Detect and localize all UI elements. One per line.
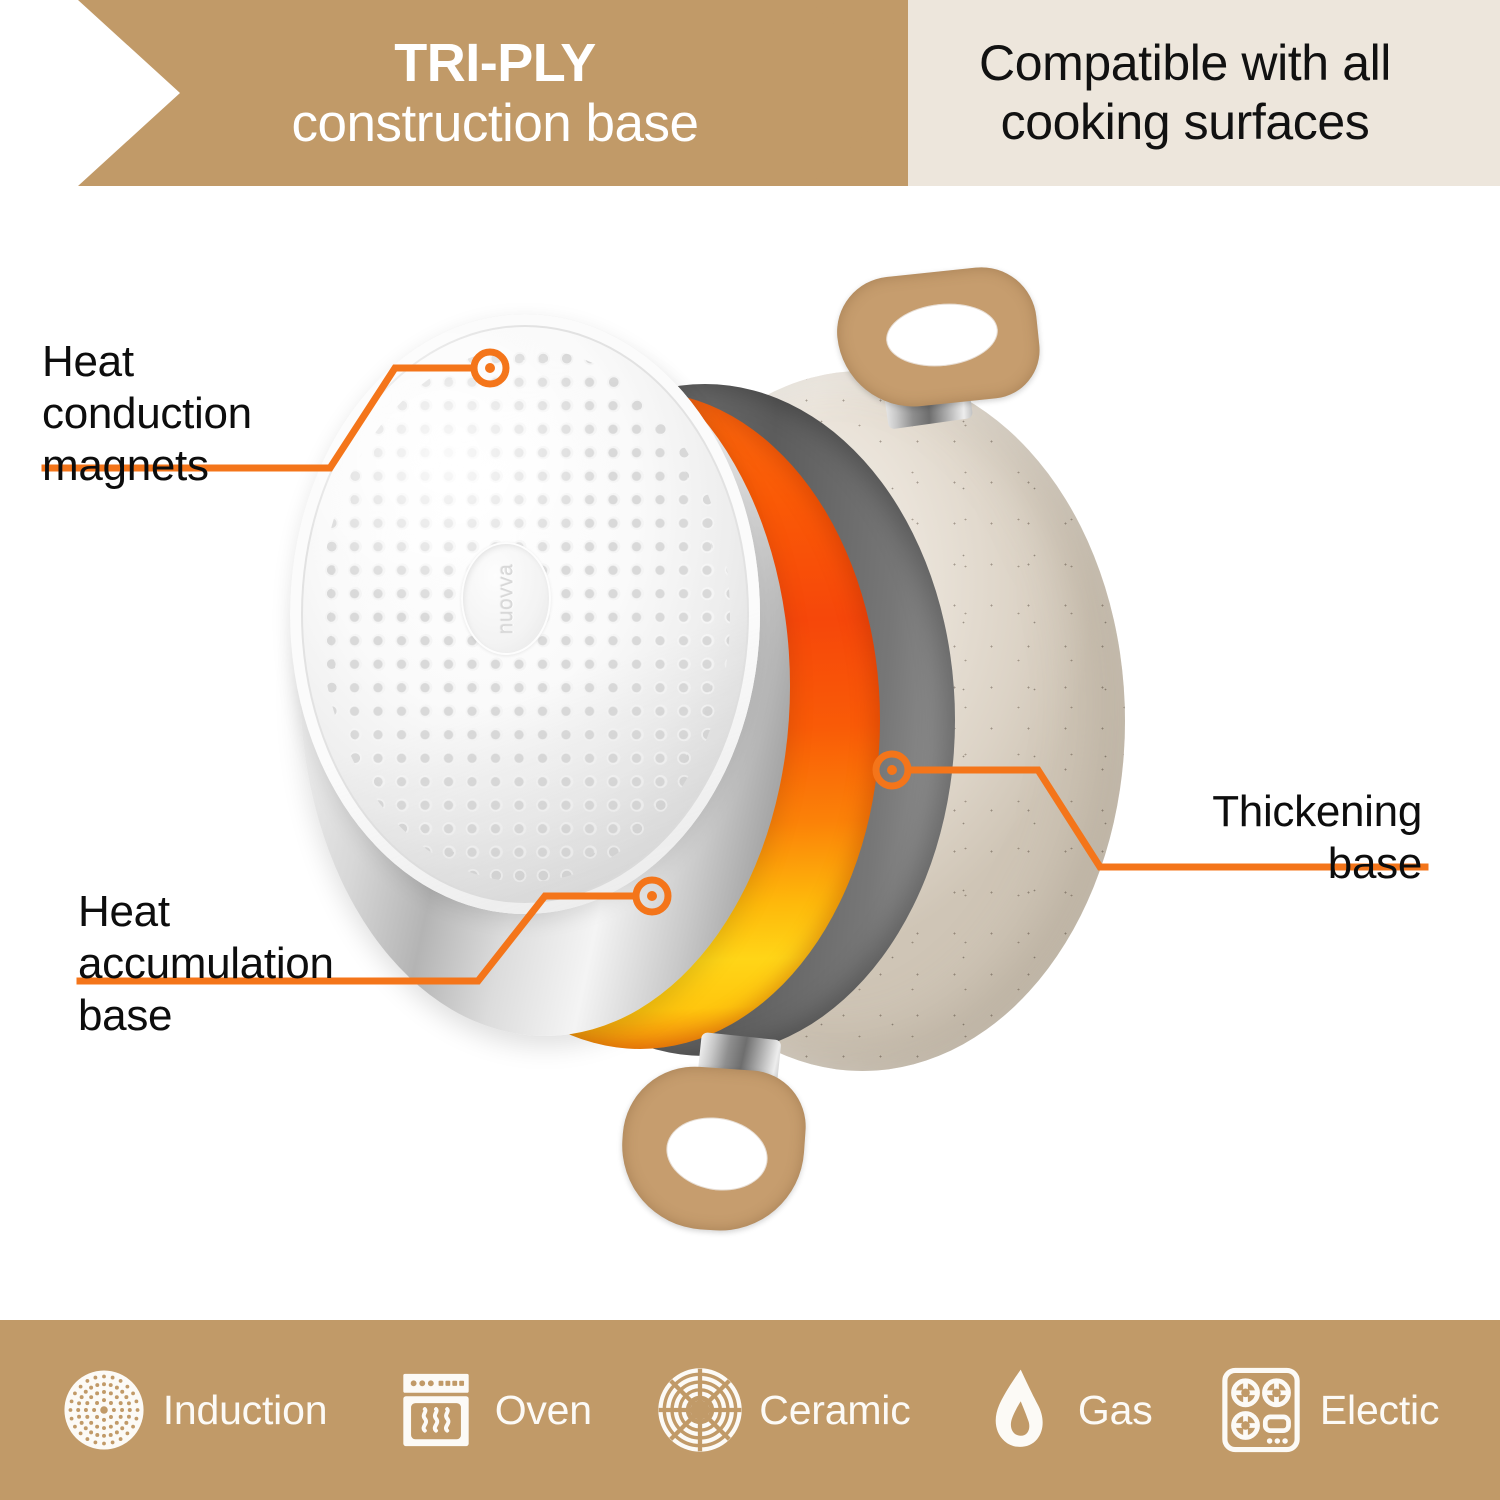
compatibility-bar: Induction Oven: [0, 1320, 1500, 1500]
callout-thickening-base: Thickening base: [1000, 786, 1422, 890]
primary-banner-line1: TRI-PLY: [394, 33, 596, 93]
header-banner-group: TRI-PLY construction base Compatible wit…: [0, 0, 1500, 186]
electric-cooktop-icon: [1218, 1367, 1304, 1453]
brand-medallion-label: nuovva: [494, 563, 518, 634]
secondary-banner-text: Compatible with all cooking surfaces: [880, 14, 1490, 172]
feature-ceramic: Ceramic: [657, 1367, 910, 1453]
ceramic-icon: [657, 1367, 743, 1453]
secondary-banner-line2: cooking surfaces: [1001, 93, 1370, 152]
handle-top: [830, 266, 1045, 466]
feature-oven: Oven: [393, 1367, 592, 1453]
gas-flame-icon: [976, 1367, 1062, 1453]
induction-icon: [61, 1367, 147, 1453]
feature-label-ceramic: Ceramic: [759, 1387, 910, 1434]
primary-banner-line2: construction base: [292, 94, 699, 153]
feature-label-gas: Gas: [1078, 1387, 1153, 1434]
feature-label-induction: Induction: [163, 1387, 328, 1434]
feature-gas: Gas: [976, 1367, 1153, 1453]
product-illustration: nuovva Heat conduction magnets: [0, 186, 1500, 1320]
feature-label-electric: Electic: [1320, 1387, 1439, 1434]
feature-induction: Induction: [61, 1367, 328, 1453]
callout-heat-accumulation-base: Heat accumulation base: [78, 886, 528, 1042]
primary-banner-text: TRI-PLY construction base: [150, 16, 840, 170]
brand-medallion: nuovva: [461, 542, 551, 655]
callout-heat-conduction-magnets: Heat conduction magnets: [42, 336, 472, 492]
feature-label-oven: Oven: [495, 1387, 592, 1434]
secondary-banner-line1: Compatible with all: [979, 34, 1391, 93]
feature-electric: Electic: [1218, 1367, 1439, 1453]
handle-bottom: [618, 1036, 818, 1246]
oven-icon: [393, 1367, 479, 1453]
